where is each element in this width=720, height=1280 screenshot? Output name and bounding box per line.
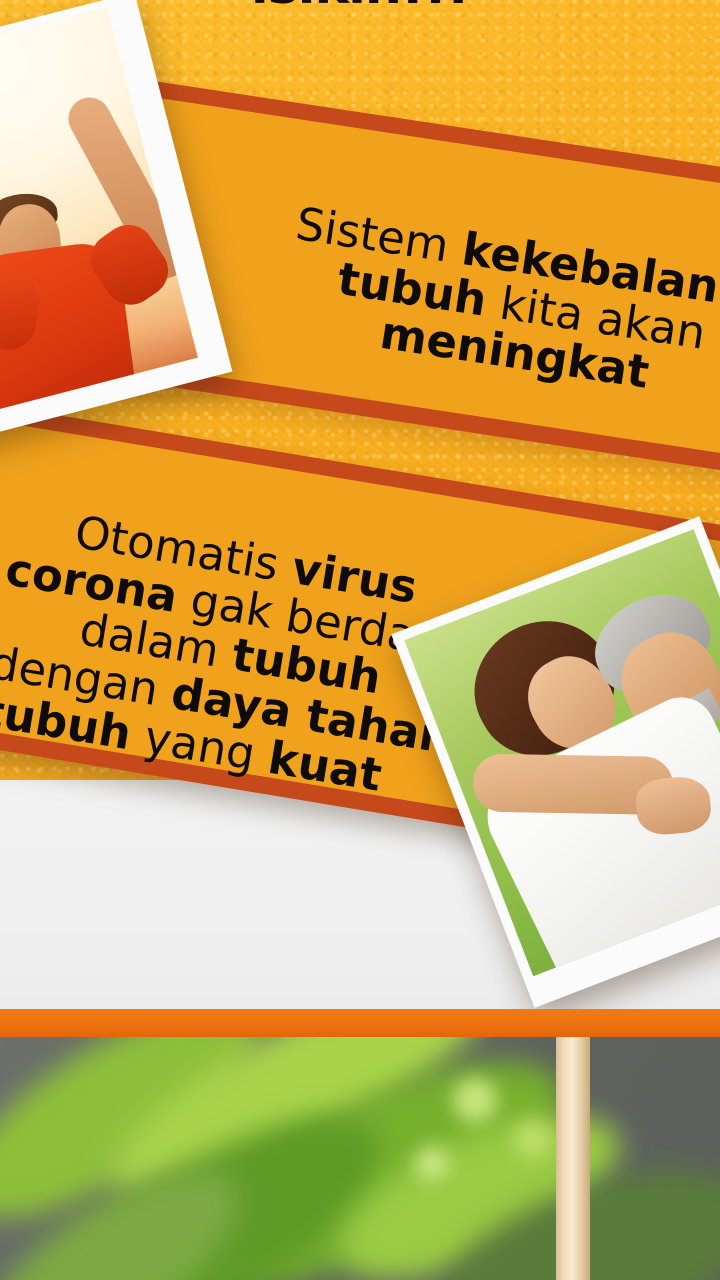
orange-divider-bar bbox=[0, 1009, 720, 1037]
poster-canvas: isikin!!! Sistem kekebalantubuh kita aka… bbox=[0, 0, 720, 1280]
photo-bamboo-plant bbox=[0, 1037, 720, 1280]
bamboo-stick bbox=[556, 1037, 590, 1280]
bokeh-highlights bbox=[0, 1037, 720, 1280]
